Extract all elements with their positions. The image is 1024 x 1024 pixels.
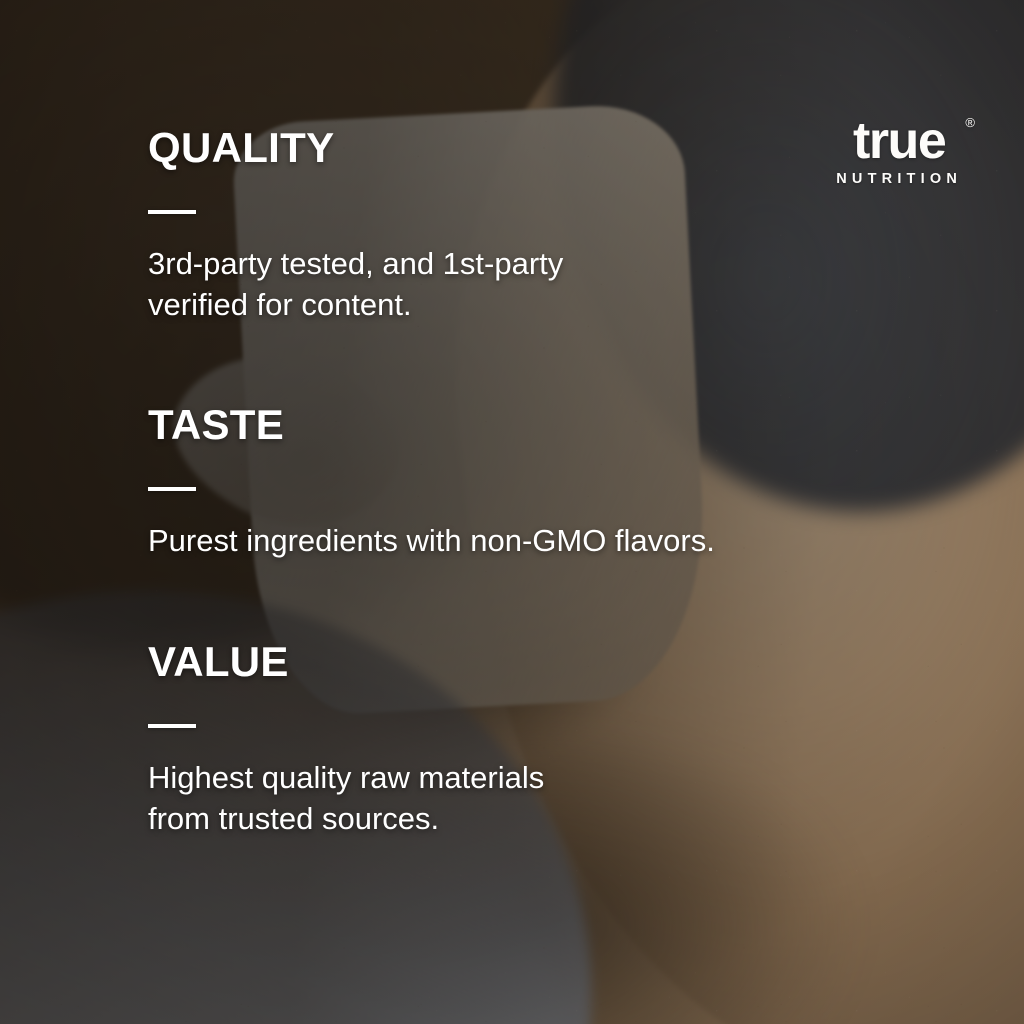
content-layer: true® NUTRITION QUALITY 3rd-party tested… (0, 0, 1024, 1024)
registered-trademark-icon: ® (965, 116, 975, 129)
value-prop-value: VALUE Highest quality raw materials from… (148, 640, 848, 840)
value-prop-body: 3rd-party tested, and 1st-party verified… (148, 244, 848, 326)
value-prop-body: Highest quality raw materials from trust… (148, 758, 848, 840)
value-prop-divider (148, 724, 196, 728)
spacer-taste-value (148, 562, 848, 640)
value-prop-divider (148, 210, 196, 214)
value-prop-body: Purest ingredients with non-GMO flavors. (148, 521, 848, 562)
brand-logo: true® NUTRITION (836, 118, 962, 187)
brand-wordmark: true® (836, 118, 962, 166)
value-prop-quality: QUALITY 3rd-party tested, and 1st-party … (148, 126, 848, 326)
value-prop-list: QUALITY 3rd-party tested, and 1st-party … (148, 126, 848, 840)
value-prop-heading: QUALITY (148, 126, 848, 170)
spacer-quality-taste (148, 326, 848, 403)
promo-graphic: true® NUTRITION QUALITY 3rd-party tested… (0, 0, 1024, 1024)
value-prop-heading: TASTE (148, 403, 848, 447)
value-prop-taste: TASTE Purest ingredients with non-GMO fl… (148, 403, 848, 562)
value-prop-heading: VALUE (148, 640, 848, 684)
brand-subtitle: NUTRITION (836, 171, 962, 187)
brand-wordmark-text: true (853, 112, 945, 170)
value-prop-divider (148, 487, 196, 491)
